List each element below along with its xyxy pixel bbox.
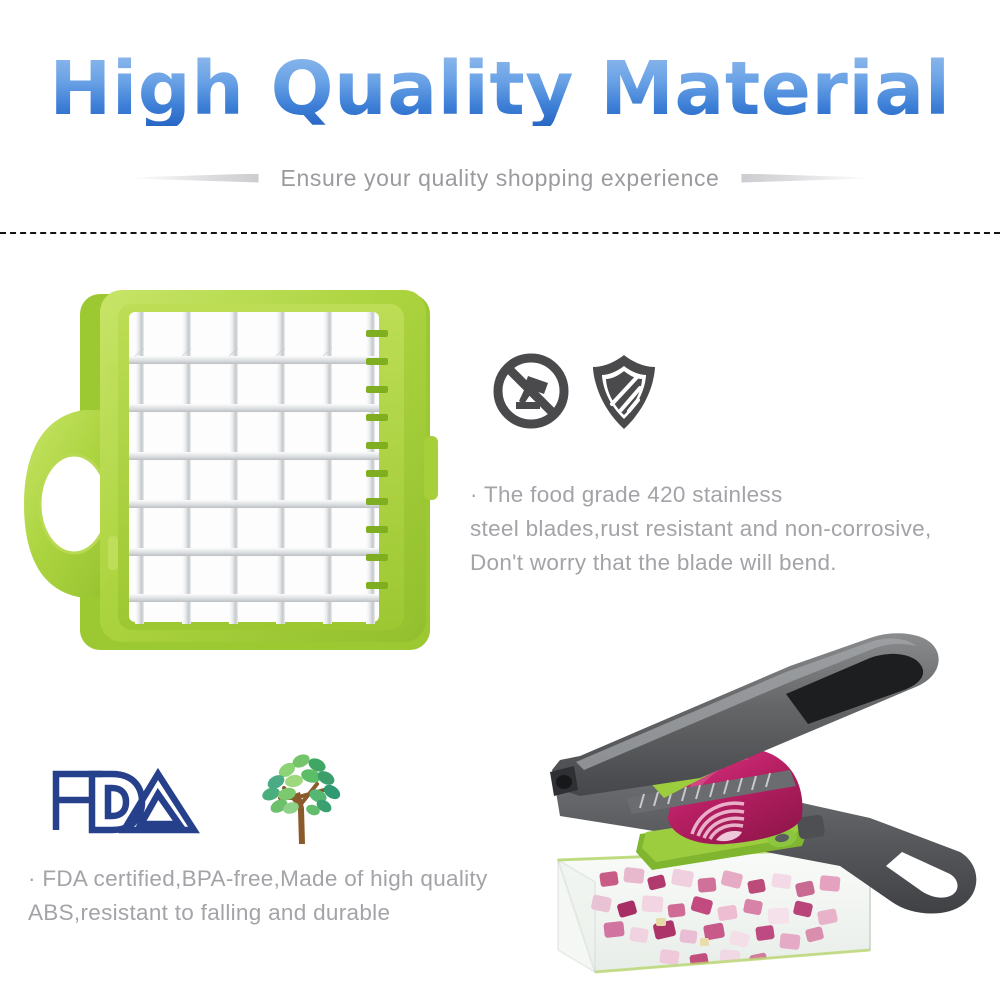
section-divider — [0, 232, 1000, 234]
no-bend-icon — [492, 352, 570, 430]
subtitle-row: Ensure your quality shopping experience — [0, 160, 1000, 196]
shield-icon — [588, 352, 660, 432]
onion-chopper-illustration — [540, 620, 1000, 1000]
material-feature-text: · FDA certified,BPA-free,Made of high qu… — [28, 862, 588, 930]
blade-grid-illustration — [22, 286, 442, 678]
decorative-rule-left — [131, 174, 259, 183]
blade-feature-icons — [492, 352, 660, 432]
eco-tree-icon — [254, 748, 352, 852]
blade-feature-text: · The food grade 420 stainless steel bla… — [470, 478, 990, 580]
fda-logo — [46, 764, 202, 836]
material-feature-icons — [46, 748, 352, 852]
product-onion-chopper — [540, 620, 1000, 1000]
page-subtitle: Ensure your quality shopping experience — [281, 165, 720, 192]
decorative-rule-right — [741, 174, 869, 183]
page-title: High Quality Material — [0, 52, 1000, 126]
product-blade-grid-insert — [22, 286, 442, 678]
product-marketing-image: High Quality Material Ensure your qualit… — [0, 0, 1000, 1000]
